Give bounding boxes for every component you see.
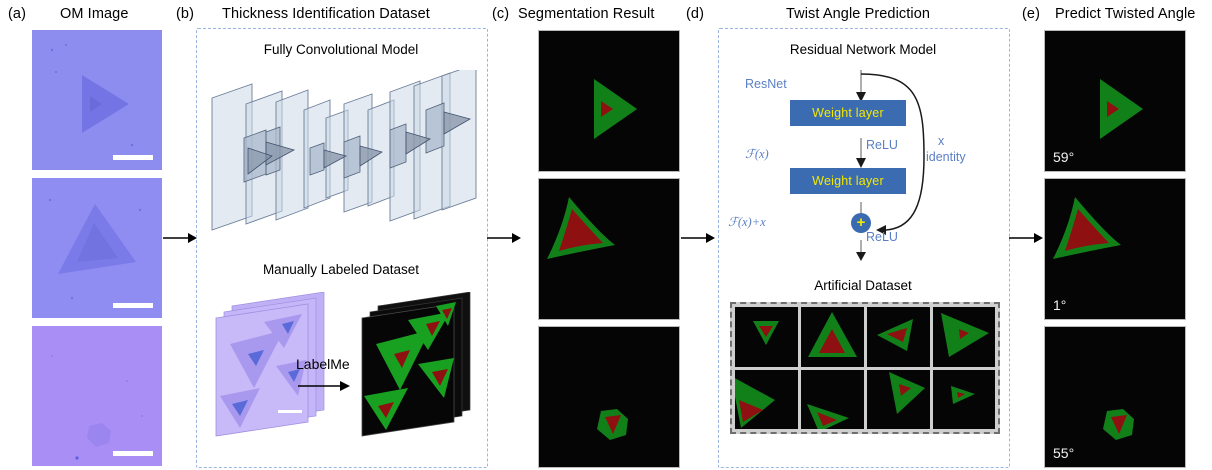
artificial-shape-6: [801, 370, 864, 429]
panel-title-c: Segmentation Result: [518, 6, 655, 22]
panel-title-b: Thickness Identification Dataset: [222, 6, 430, 22]
artificial-sample-5: [735, 370, 798, 429]
weight-layer-box-1: Weight layer: [790, 100, 906, 126]
artificial-sample-6: [801, 370, 864, 429]
angle-label-1: 59°: [1053, 149, 1074, 165]
arrow-d-to-e: [1009, 228, 1043, 248]
arrow-c-to-d: [681, 228, 715, 248]
labelme-arrow-icon: [298, 378, 350, 394]
artificial-shape-4: [933, 307, 995, 367]
segmentation-1: [538, 30, 680, 172]
artificial-shape-3: [867, 307, 930, 367]
labelme-arrow-label: LabelMe: [296, 356, 350, 372]
artificial-shape-5: [735, 370, 798, 429]
identity-label: identity: [926, 150, 966, 164]
segmentation-shape-3: [539, 327, 679, 467]
artificial-sample-1: [735, 307, 798, 367]
panel-tag-b: (b): [176, 6, 194, 22]
artificial-sample-2: [801, 307, 864, 367]
arrow-b-to-c: [487, 228, 521, 248]
panel-title-a: OM Image: [60, 6, 129, 22]
fcn-model-title: Fully Convolutional Model: [196, 42, 486, 57]
weight-layer-box-2: Weight layer: [790, 168, 906, 194]
identity-label-x: x: [938, 134, 944, 148]
om-image-2: [32, 178, 162, 318]
om-image-1: [32, 30, 162, 170]
relu-label-1: ReLU: [866, 138, 898, 152]
angle-label-2: 1°: [1053, 297, 1066, 313]
artificial-shape-1: [735, 307, 798, 367]
artificial-sample-7: [867, 370, 930, 429]
artificial-shape-8: [933, 370, 995, 429]
panel-tag-d: (d): [686, 6, 704, 22]
scale-bar-3: [113, 451, 153, 456]
fxx-label: ℱ(x)+x: [728, 214, 766, 230]
prediction-2: 1°: [1044, 178, 1186, 320]
artificial-sample-8: [933, 370, 995, 429]
segmentation-2: [538, 178, 680, 320]
artificial-shape-7: [867, 370, 930, 429]
fx-label: ℱ(x): [745, 146, 769, 162]
prediction-3: 55°: [1044, 326, 1186, 468]
om-flake-1: [32, 30, 162, 170]
om-flake-2: [32, 178, 162, 318]
artificial-dataset-grid: [730, 302, 1000, 434]
arrow-a-to-b: [163, 228, 197, 248]
artificial-sample-3: [867, 307, 930, 367]
segmentation-shape-2: [539, 179, 679, 319]
figure-root: (a) OM Image (b) Thickness Identificatio…: [0, 0, 1212, 470]
panel-title-d: Twist Angle Prediction: [786, 6, 930, 22]
prediction-1: 59°: [1044, 30, 1186, 172]
angle-label-3: 55°: [1053, 445, 1074, 461]
scale-bar-1: [113, 155, 153, 160]
panel-title-e: Predict Twisted Angle: [1055, 6, 1195, 22]
labeled-dataset-title: Manually Labeled Dataset: [196, 262, 486, 277]
panel-tag-c: (c): [492, 6, 509, 22]
om-flake-3: [32, 326, 162, 466]
fcn-architecture-diagram: [204, 70, 480, 250]
panel-tag-a: (a): [8, 6, 26, 22]
panel-tag-e: (e): [1022, 6, 1040, 22]
segmentation-shape-1: [539, 31, 679, 171]
labeled-mask-stack: [352, 292, 482, 442]
resnet-model-title: Residual Network Model: [718, 42, 1008, 57]
scale-bar-2: [113, 303, 153, 308]
artificial-dataset-title: Artificial Dataset: [718, 278, 1008, 293]
relu-label-2: ReLU: [866, 230, 898, 244]
segmentation-3: [538, 326, 680, 468]
artificial-shape-2: [801, 307, 864, 367]
artificial-sample-4: [933, 307, 995, 367]
om-image-3: [32, 326, 162, 466]
addition-node: +: [851, 213, 871, 233]
